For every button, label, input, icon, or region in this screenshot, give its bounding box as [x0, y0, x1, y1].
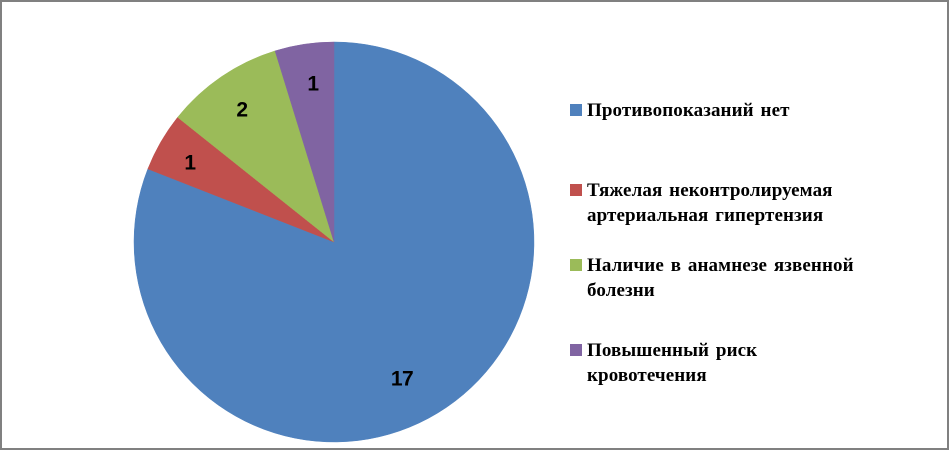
pie-data-label-severe-uncontrolled-hypertension: 1: [184, 153, 195, 174]
legend-item-label: Повышенный рисккровотечения: [587, 338, 757, 388]
legend-item-label: Тяжелая неконтролируемаяартериальная гип…: [587, 178, 833, 228]
chart-figure: 17121 Противопоказаний нетТяжелая неконт…: [0, 0, 949, 450]
legend-swatch-icon: [570, 184, 582, 196]
pie-data-label-increased-bleeding-risk: 1: [307, 74, 318, 95]
legend-item-0[interactable]: Противопоказаний нет: [570, 98, 948, 123]
legend-swatch-icon: [570, 259, 582, 271]
pie-data-label-history-of-ulcer-disease: 2: [236, 100, 247, 121]
legend-item-2[interactable]: Наличие в анамнезе язвеннойболезни: [570, 253, 948, 303]
legend-swatch-icon: [570, 344, 582, 356]
legend-item-3[interactable]: Повышенный рисккровотечения: [570, 338, 948, 388]
pie-chart-svg: [2, 2, 562, 448]
legend-item-1[interactable]: Тяжелая неконтролируемаяартериальная гип…: [570, 178, 948, 228]
legend-swatch-icon: [570, 104, 582, 116]
chart-legend: Противопоказаний нетТяжелая неконтролиру…: [570, 2, 948, 448]
pie-data-label-no-contraindications: 17: [391, 369, 413, 390]
pie-chart-plot-area: 17121: [2, 2, 562, 448]
legend-item-label: Противопоказаний нет: [587, 98, 790, 123]
legend-item-label: Наличие в анамнезе язвеннойболезни: [587, 253, 854, 303]
pie-slice-group: [134, 42, 534, 442]
